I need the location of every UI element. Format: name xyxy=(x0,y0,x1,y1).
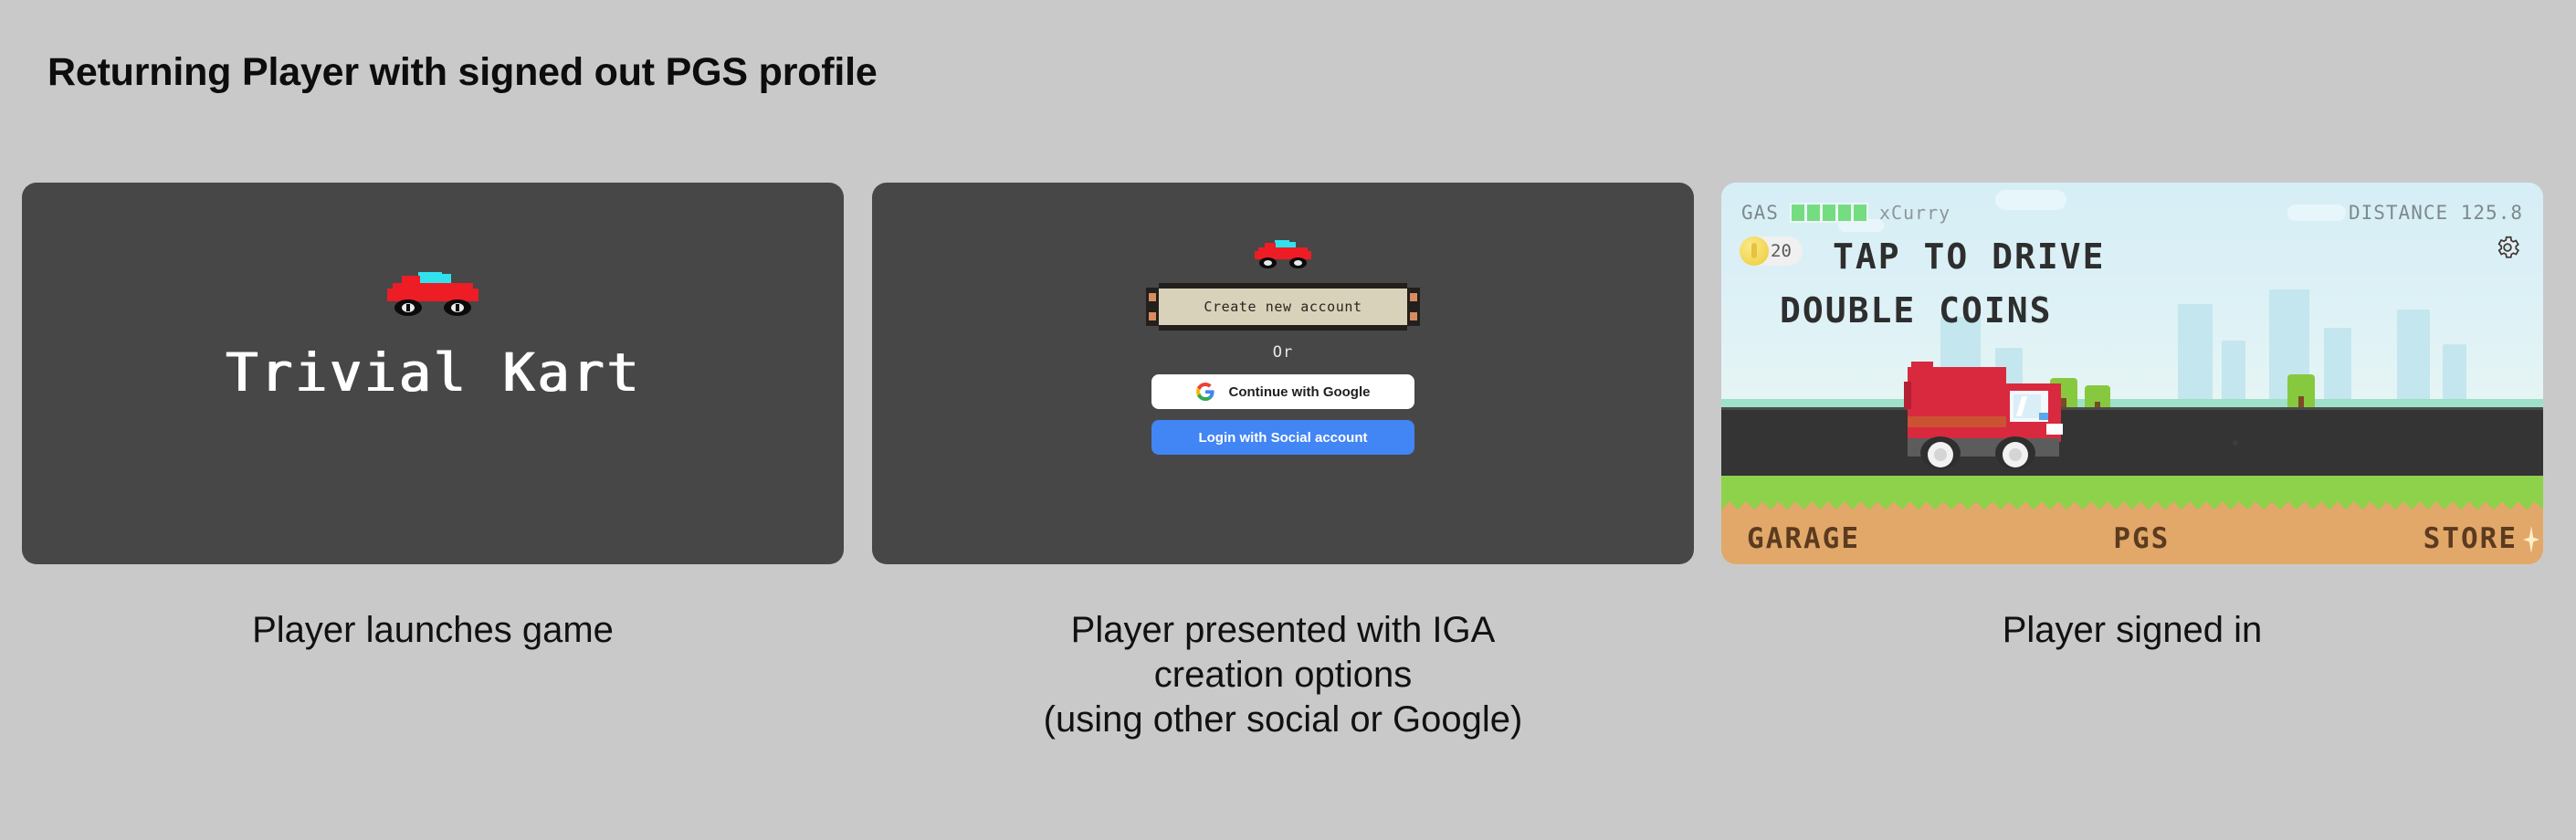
create-new-account-button[interactable]: Create new account xyxy=(1146,283,1420,331)
caption-line-3: (using other social or Google) xyxy=(872,698,1694,742)
gas-meter xyxy=(1790,203,1868,223)
sparkle-icon xyxy=(2523,526,2539,553)
login-with-social-label: Login with Social account xyxy=(1198,430,1367,446)
gear-icon[interactable] xyxy=(2494,234,2521,261)
player-name-label: xCurry xyxy=(1879,202,1950,224)
road xyxy=(1721,407,2543,476)
tap-to-drive-message: TAP TO DRIVE xyxy=(1833,230,2106,284)
panel-caption: Player presented with IGA creation optio… xyxy=(872,608,1694,741)
google-logo-icon xyxy=(1196,383,1214,401)
hud-top-row: GAS xCurry DISTANCE 125.8 xyxy=(1741,201,2523,225)
game-navbar: GARAGE PGS STORE xyxy=(1721,513,2543,564)
coin-badge: 20 xyxy=(1740,236,1803,267)
nav-item-garage[interactable]: GARAGE xyxy=(1747,522,1860,555)
screen-iga-options: Create new account Or Continue xyxy=(872,183,1694,564)
caption-line-1: Player presented with IGA xyxy=(872,608,1694,653)
slide-root: Returning Player with signed out PGS pro… xyxy=(0,0,2576,840)
screen-title-screen[interactable]: Trivial Kart xyxy=(22,183,844,564)
continue-with-google-button[interactable]: Continue with Google xyxy=(1151,374,1414,409)
panel-caption: Player signed in xyxy=(1721,608,2543,653)
continue-with-google-label: Continue with Google xyxy=(1229,384,1371,400)
panel-signed-in: GAS xCurry DISTANCE 125.8 20 xyxy=(1721,183,2543,653)
divider-or-label: Or xyxy=(1273,343,1293,362)
pixel-car-icon xyxy=(1251,237,1315,270)
scroll-bottom-edge xyxy=(1159,325,1407,331)
scroll-cap-right xyxy=(1407,288,1420,326)
coin-icon xyxy=(1740,236,1769,266)
screen-gameplay[interactable]: GAS xCurry DISTANCE 125.8 20 xyxy=(1721,183,2543,564)
double-coins-message: DOUBLE COINS xyxy=(1780,284,2106,338)
nav-item-store[interactable]: STORE xyxy=(2424,522,2518,555)
iga-options-content: Create new account Or Continue xyxy=(872,237,1694,455)
login-with-social-button[interactable]: Login with Social account xyxy=(1151,420,1414,455)
horizon-strip xyxy=(1721,399,2543,407)
road-detail xyxy=(2233,440,2238,446)
panel-iga-options: Create new account Or Continue xyxy=(872,183,1694,741)
panel-row: Trivial Kart Player launches game xyxy=(0,183,2576,584)
distance-label: DISTANCE 125.8 xyxy=(2349,202,2523,224)
page-title: Returning Player with signed out PGS pro… xyxy=(47,50,878,95)
pixel-car-icon xyxy=(380,267,486,318)
nav-item-pgs[interactable]: PGS xyxy=(2113,522,2170,555)
title-screen-content: Trivial Kart xyxy=(22,267,844,404)
caption-line-2: creation options xyxy=(872,653,1694,698)
panel-caption: Player launches game xyxy=(22,608,844,653)
scroll-cap-left xyxy=(1146,288,1159,326)
game-logo: Trivial Kart xyxy=(225,341,640,404)
gas-label: GAS xyxy=(1741,202,1779,224)
gameplay-messages: TAP TO DRIVE DOUBLE COINS xyxy=(1833,230,2106,338)
player-truck-sprite xyxy=(1900,360,2068,477)
create-new-account-label: Create new account xyxy=(1204,299,1362,315)
panel-launch: Trivial Kart Player launches game xyxy=(22,183,844,653)
